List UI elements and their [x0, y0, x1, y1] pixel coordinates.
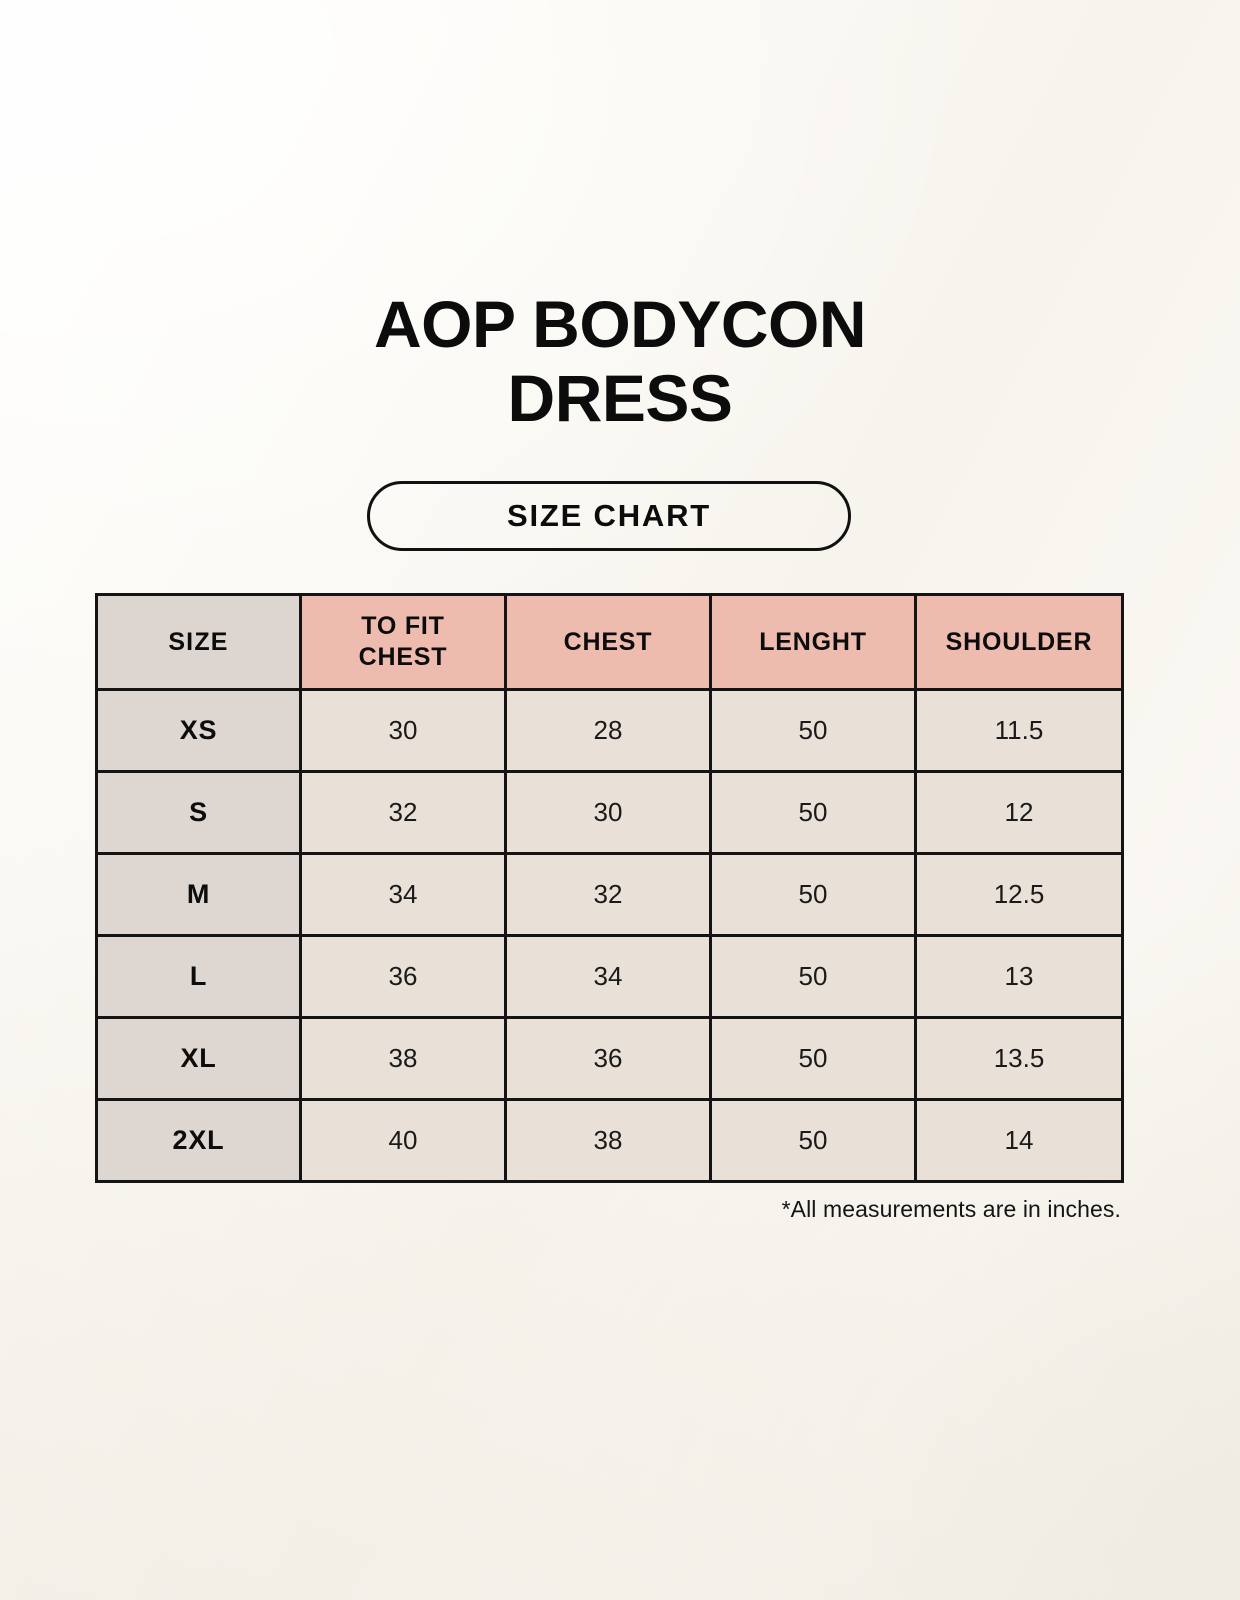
- cell-to_fit: 32: [301, 772, 506, 854]
- column-header-shoulder: SHOULDER: [916, 595, 1123, 690]
- size-table-container: SIZETO FIT CHESTCHESTLENGHTSHOULDER XS30…: [95, 593, 1121, 1183]
- size-table-head: SIZETO FIT CHESTCHESTLENGHTSHOULDER: [97, 595, 1123, 690]
- cell-chest: 30: [506, 772, 711, 854]
- column-header-size: SIZE: [97, 595, 301, 690]
- size-table: SIZETO FIT CHESTCHESTLENGHTSHOULDER XS30…: [95, 593, 1124, 1183]
- cell-shoulder: 13.5: [916, 1018, 1123, 1100]
- cell-length: 50: [711, 854, 916, 936]
- cell-to_fit: 34: [301, 854, 506, 936]
- table-row: L36345013: [97, 936, 1123, 1018]
- cell-length: 50: [711, 1100, 916, 1182]
- cell-size-label: 2XL: [97, 1100, 301, 1182]
- cell-length: 50: [711, 690, 916, 772]
- column-header-chest: CHEST: [506, 595, 711, 690]
- column-header-to_fit: TO FIT CHEST: [301, 595, 506, 690]
- table-row: XL38365013.5: [97, 1018, 1123, 1100]
- cell-chest: 36: [506, 1018, 711, 1100]
- cell-length: 50: [711, 1018, 916, 1100]
- measurement-unit-note: *All measurements are in inches.: [0, 1196, 1121, 1223]
- page-title: AOP BODYCON DRESS: [0, 287, 1240, 435]
- cell-to_fit: 36: [301, 936, 506, 1018]
- table-row: 2XL40385014: [97, 1100, 1123, 1182]
- size-chart-badge-label: SIZE CHART: [507, 498, 711, 534]
- cell-chest: 38: [506, 1100, 711, 1182]
- cell-to_fit: 38: [301, 1018, 506, 1100]
- cell-to_fit: 30: [301, 690, 506, 772]
- table-row: XS30285011.5: [97, 690, 1123, 772]
- cell-chest: 28: [506, 690, 711, 772]
- cell-chest: 32: [506, 854, 711, 936]
- table-header-row: SIZETO FIT CHESTCHESTLENGHTSHOULDER: [97, 595, 1123, 690]
- cell-length: 50: [711, 936, 916, 1018]
- cell-size-label: M: [97, 854, 301, 936]
- cell-shoulder: 13: [916, 936, 1123, 1018]
- size-chart-badge: SIZE CHART: [367, 481, 851, 551]
- cell-shoulder: 11.5: [916, 690, 1123, 772]
- cell-size-label: S: [97, 772, 301, 854]
- size-chart-page: AOP BODYCON DRESS SIZE CHART SIZETO FIT …: [0, 0, 1240, 1600]
- cell-size-label: XL: [97, 1018, 301, 1100]
- cell-to_fit: 40: [301, 1100, 506, 1182]
- cell-size-label: XS: [97, 690, 301, 772]
- size-table-body: XS30285011.5S32305012M34325012.5L3634501…: [97, 690, 1123, 1182]
- table-row: S32305012: [97, 772, 1123, 854]
- cell-shoulder: 12: [916, 772, 1123, 854]
- cell-shoulder: 12.5: [916, 854, 1123, 936]
- cell-length: 50: [711, 772, 916, 854]
- table-row: M34325012.5: [97, 854, 1123, 936]
- cell-chest: 34: [506, 936, 711, 1018]
- cell-shoulder: 14: [916, 1100, 1123, 1182]
- column-header-length: LENGHT: [711, 595, 916, 690]
- cell-size-label: L: [97, 936, 301, 1018]
